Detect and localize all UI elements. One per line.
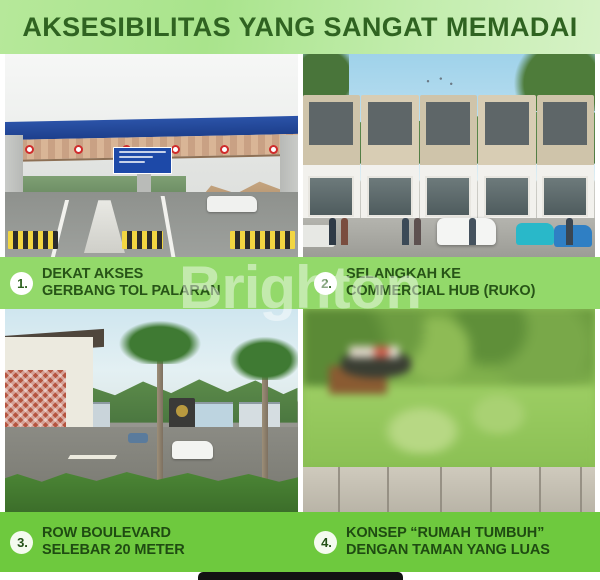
boulevard-photo <box>5 309 298 512</box>
feature-2-badge: 2. <box>314 272 337 295</box>
feature-row-2: 3. ROW BOULEVARD SELEBAR 20 METER 4. KON… <box>0 309 600 572</box>
blue-car <box>554 225 592 247</box>
foreground-tree-left <box>303 54 350 99</box>
shophouse-unit <box>361 95 419 221</box>
feature-1-label: DEKAT AKSES GERBANG TOL PALARAN <box>42 266 221 299</box>
shophouse-unit <box>420 95 478 221</box>
feature-3-badge: 3. <box>10 531 33 554</box>
garden-photo <box>303 309 596 512</box>
estate-signboard <box>169 398 195 428</box>
lane-sign-icon <box>25 145 34 154</box>
feature-4-badge: 4. <box>314 531 337 554</box>
white-suv <box>172 441 213 459</box>
poster-header: AKSESIBILITAS YANG SANGAT MEMADAI <box>0 0 600 54</box>
row-2-images <box>0 309 600 512</box>
shrub <box>466 390 530 435</box>
pedestrian <box>402 218 409 244</box>
feature-1-badge: 1. <box>10 272 33 295</box>
lane-sign-icon <box>74 145 83 154</box>
caption-band-row-2: 3. ROW BOULEVARD SELEBAR 20 METER 4. KON… <box>0 512 600 572</box>
palm-crown <box>116 319 204 364</box>
white-suv <box>437 218 496 244</box>
promo-poster: AKSESIBILITAS YANG SANGAT MEMADAI <box>0 0 600 580</box>
feature-2-label: SELANGKAH KE COMMERCIAL HUB (RUKO) <box>346 266 535 299</box>
page-title: AKSESIBILITAS YANG SANGAT MEMADAI <box>22 14 577 41</box>
lane-sign-icon <box>269 145 278 154</box>
shrub <box>379 402 467 455</box>
blue-road-sign <box>113 147 172 173</box>
white-car <box>207 196 257 212</box>
lane-sign-icon <box>171 145 180 154</box>
lane-sign-icon <box>220 145 229 154</box>
feature-4: 4. KONSEP “RUMAH TUMBUH” DENGAN TAMAN YA… <box>300 512 600 572</box>
safety-barrier <box>230 231 294 249</box>
feature-4-label: KONSEP “RUMAH TUMBUH” DENGAN TAMAN YANG … <box>346 525 550 558</box>
foreground-deck <box>303 467 596 512</box>
shophouse-unit <box>537 95 595 221</box>
palm-crown <box>227 335 297 380</box>
pedestrian <box>566 218 573 244</box>
safety-barrier <box>8 231 58 249</box>
feature-3-label: ROW BOULEVARD SELEBAR 20 METER <box>42 525 185 558</box>
teal-car <box>516 223 554 245</box>
distant-car <box>128 433 148 443</box>
pedestrian <box>341 218 348 244</box>
feature-2: 2. SELANGKAH KE COMMERCIAL HUB (RUKO) <box>300 257 600 309</box>
birds-icon <box>420 76 461 88</box>
pedestrian <box>469 218 476 244</box>
feature-1: 1. DEKAT AKSES GERBANG TOL PALARAN <box>0 257 300 309</box>
row-1-images <box>0 54 600 257</box>
shophouse-unit <box>478 95 536 221</box>
safety-barrier <box>122 231 163 249</box>
shophouse-row <box>303 95 596 221</box>
feature-row-1: 1. DEKAT AKSES GERBANG TOL PALARAN 2. SE… <box>0 54 600 309</box>
feature-grid: 1. DEKAT AKSES GERBANG TOL PALARAN 2. SE… <box>0 54 600 580</box>
pedestrian <box>329 218 336 244</box>
pedestrian <box>414 218 421 244</box>
ruko-photo <box>303 54 596 257</box>
road-marking <box>68 455 117 459</box>
bottom-bar <box>198 572 403 580</box>
table-items <box>349 346 399 358</box>
toll-gate-photo <box>5 54 298 257</box>
caption-band-row-1: 1. DEKAT AKSES GERBANG TOL PALARAN 2. SE… <box>0 257 600 309</box>
feature-3: 3. ROW BOULEVARD SELEBAR 20 METER <box>0 512 300 572</box>
shophouse-unit <box>303 95 361 221</box>
